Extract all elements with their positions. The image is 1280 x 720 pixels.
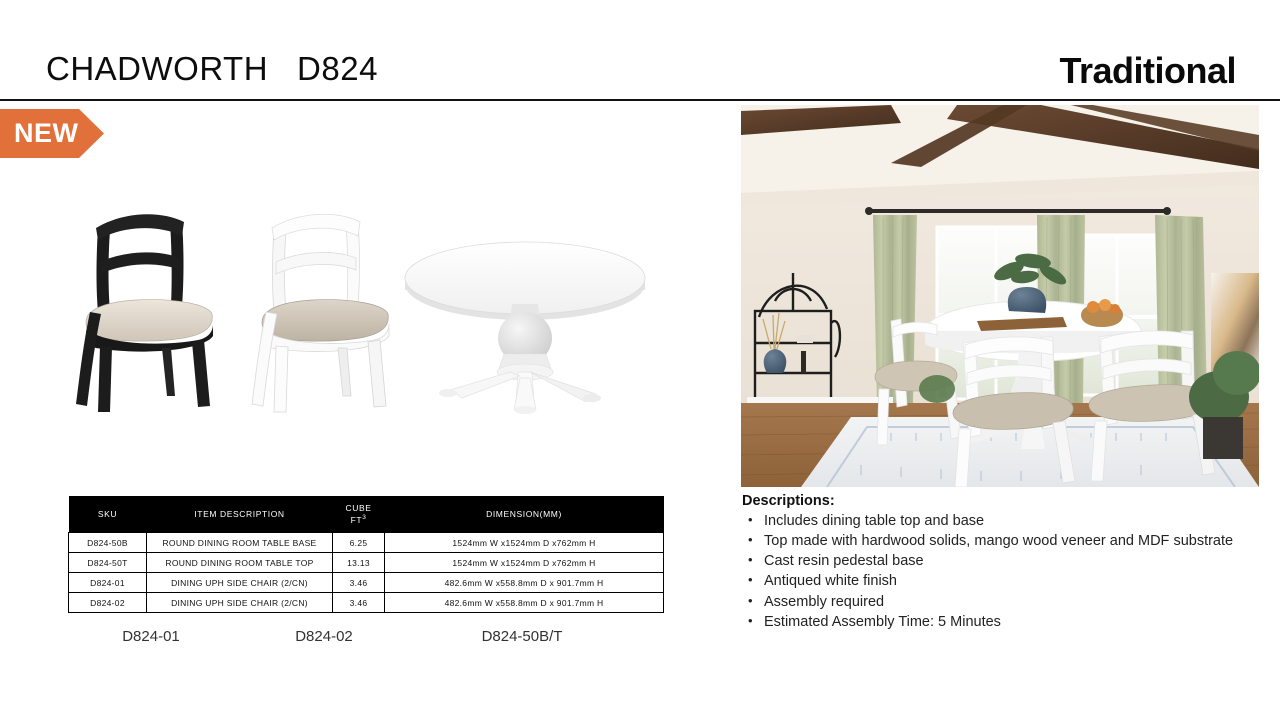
cell-description: DINING UPH SIDE CHAIR (2/CN) [147, 593, 333, 613]
cell-cube: 6.25 [333, 533, 385, 553]
product-label-d824-02: D824-02 [224, 628, 424, 645]
room-scene-photo [741, 105, 1259, 487]
cube-line2: FT [351, 514, 363, 524]
description-item: Cast resin pedestal base [742, 552, 1262, 571]
cell-description: ROUND DINING ROOM TABLE BASE [147, 533, 333, 553]
product-gallery: D824-01 D824-02 D824-50B/T [60, 200, 680, 460]
white-chair-illustration [250, 200, 420, 415]
column-header-cube-ft3: CUBE FT3 [333, 496, 385, 533]
new-badge-label: NEW [0, 118, 79, 149]
product-label-d824-01: D824-01 [51, 628, 251, 645]
cell-cube: 3.46 [333, 573, 385, 593]
table-row: D824-02 DINING UPH SIDE CHAIR (2/CN) 3.4… [69, 593, 664, 613]
header-divider [0, 99, 1280, 101]
descriptions-section: Descriptions: Includes dining table top … [742, 493, 1262, 633]
room-scene-illustration [741, 105, 1259, 487]
page-header: CHADWORTH D824 Traditional [0, 0, 1280, 100]
cell-sku: D824-01 [69, 573, 147, 593]
column-header-item-description: ITEM DESCRIPTION [147, 496, 333, 533]
description-item: Top made with hardwood solids, mango woo… [742, 532, 1262, 551]
product-image-d824-01 [74, 200, 244, 420]
product-label-d824-50bt: D824-50B/T [422, 628, 622, 645]
style-label: Traditional [1059, 50, 1236, 92]
page-title: CHADWORTH D824 [46, 50, 378, 88]
cell-description: ROUND DINING ROOM TABLE TOP [147, 553, 333, 573]
cell-sku: D824-02 [69, 593, 147, 613]
cube-line1: CUBE [345, 503, 371, 513]
new-badge: NEW [0, 109, 104, 158]
round-table-illustration [400, 238, 650, 416]
column-header-dimension: DIMENSION(MM) [385, 496, 664, 533]
table-row: D824-01 DINING UPH SIDE CHAIR (2/CN) 3.4… [69, 573, 664, 593]
cell-dimension: 482.6mm W x558.8mm D x 901.7mm H [385, 593, 664, 613]
description-item: Includes dining table top and base [742, 512, 1262, 531]
description-item: Antiqued white finish [742, 572, 1262, 591]
cell-description: DINING UPH SIDE CHAIR (2/CN) [147, 573, 333, 593]
spec-table: SKU ITEM DESCRIPTION CUBE FT3 DIMENSION(… [68, 496, 664, 613]
descriptions-heading: Descriptions: [742, 493, 1262, 509]
description-item: Estimated Assembly Time: 5 Minutes [742, 613, 1262, 632]
cell-dimension: 1524mm W x1524mm D x762mm H [385, 553, 664, 573]
cell-sku: D824-50T [69, 553, 147, 573]
cell-dimension: 482.6mm W x558.8mm D x 901.7mm H [385, 573, 664, 593]
cell-cube: 3.46 [333, 593, 385, 613]
cell-dimension: 1524mm W x1524mm D x762mm H [385, 533, 664, 553]
cell-cube: 13.13 [333, 553, 385, 573]
table-row: D824-50T ROUND DINING ROOM TABLE TOP 13.… [69, 553, 664, 573]
product-image-d824-02 [250, 200, 420, 420]
description-item: Assembly required [742, 593, 1262, 612]
table-row: D824-50B ROUND DINING ROOM TABLE BASE 6.… [69, 533, 664, 553]
cell-sku: D824-50B [69, 533, 147, 553]
column-header-sku: SKU [69, 496, 147, 533]
product-image-d824-50bt [400, 238, 650, 421]
cube-superscript: 3 [362, 514, 366, 521]
table-header-row: SKU ITEM DESCRIPTION CUBE FT3 DIMENSION(… [69, 496, 664, 533]
descriptions-list: Includes dining table top and base Top m… [742, 512, 1262, 632]
black-chair-illustration [74, 200, 244, 415]
